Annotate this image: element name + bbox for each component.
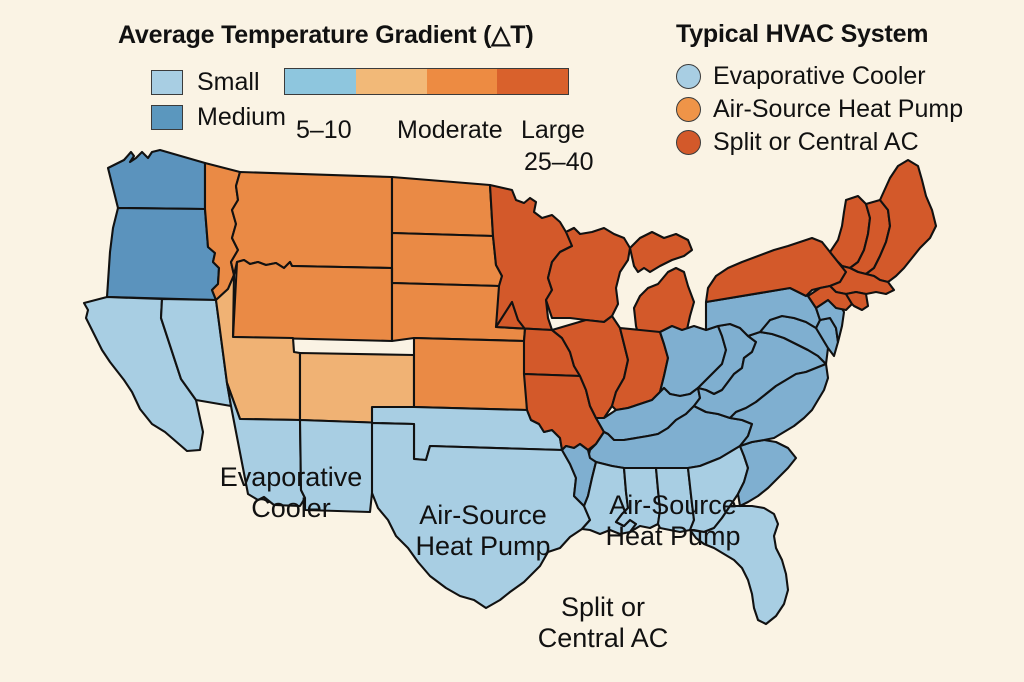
- map-label-evaporative-cooler: Evaporative Cooler: [196, 462, 386, 524]
- circle-swatch-icon: [676, 130, 701, 155]
- state-KS[interactable]: [414, 338, 527, 410]
- circle-swatch-icon: [676, 97, 701, 122]
- scale-label-large: Large: [521, 116, 585, 145]
- temperature-gradient-legend: Average Temperature Gradient (△T) Small …: [118, 20, 588, 50]
- map-label-air-source-heat-pump-east: Air-Source Heat Pump: [578, 490, 768, 552]
- gradient-band-4: [497, 69, 568, 94]
- hvac-legend-list: Evaporative Cooler Air-Source Heat Pump …: [676, 60, 963, 159]
- scale-label-large-range: 25–40: [524, 148, 594, 177]
- hvac-legend-title: Typical HVAC System: [676, 20, 963, 49]
- state-SD[interactable]: [392, 233, 502, 286]
- swatch-small-label: Small: [197, 68, 260, 97]
- hvac-legend-label-1: Air-Source Heat Pump: [713, 95, 963, 124]
- gradient-swatch-row-small: Small: [151, 66, 286, 98]
- gradient-band-1: [285, 69, 356, 94]
- gradient-color-bar: [284, 68, 569, 95]
- gradient-scale-labels: 5–10 Moderate Large 25–40: [284, 116, 584, 186]
- hvac-legend-label-0: Evaporative Cooler: [713, 62, 926, 91]
- map-label-split-or-central-ac: Split or Central AC: [508, 592, 698, 654]
- gradient-band-3: [427, 69, 498, 94]
- hvac-legend-item-air-source-heat-pump: Air-Source Heat Pump: [676, 93, 963, 126]
- state-WA[interactable]: [108, 150, 205, 209]
- temperature-gradient-hvac-map: Evaporative Cooler Air-Source Heat Pump …: [0, 0, 1024, 682]
- swatch-small-icon: [151, 70, 183, 95]
- state-WY[interactable]: [233, 260, 392, 341]
- hvac-legend-item-evaporative-cooler: Evaporative Cooler: [676, 60, 963, 93]
- circle-swatch-icon: [676, 64, 701, 89]
- scale-label-moderate: Moderate: [397, 116, 503, 145]
- scale-label-small-range: 5–10: [296, 116, 352, 145]
- hvac-system-legend: Typical HVAC System Evaporative Cooler A…: [676, 20, 963, 159]
- state-OR[interactable]: [107, 208, 219, 300]
- hvac-legend-item-split-or-central-ac: Split or Central AC: [676, 126, 963, 159]
- gradient-swatch-list: Small Medium: [151, 66, 286, 136]
- map-label-air-source-heat-pump-west: Air-Source Heat Pump: [388, 500, 578, 562]
- gradient-legend-title: Average Temperature Gradient (△T): [118, 20, 588, 50]
- swatch-medium-label: Medium: [197, 103, 286, 132]
- swatch-medium-icon: [151, 105, 183, 130]
- hvac-legend-label-2: Split or Central AC: [713, 128, 919, 157]
- gradient-band-2: [356, 69, 427, 94]
- state-MT[interactable]: [231, 172, 392, 275]
- gradient-swatch-row-medium: Medium: [151, 101, 286, 133]
